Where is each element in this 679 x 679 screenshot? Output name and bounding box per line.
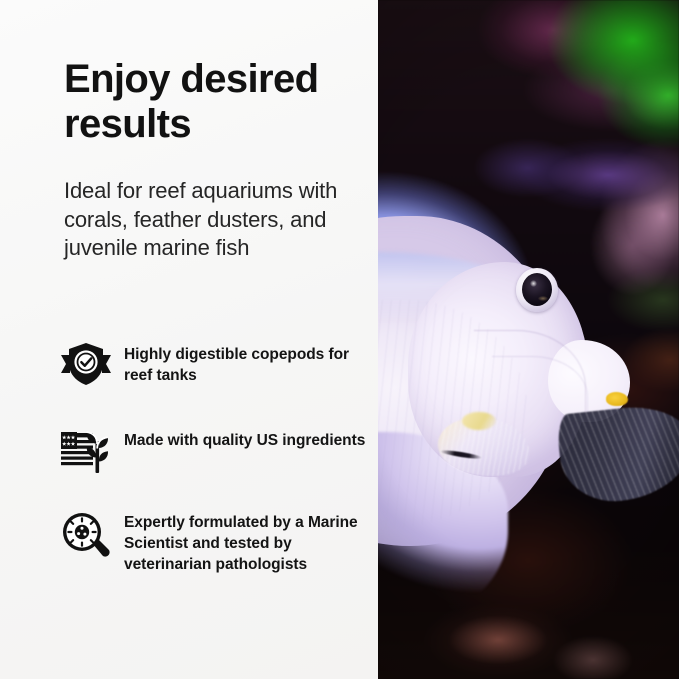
feature-list: Highly digestible copepods for reef tank… <box>60 338 378 575</box>
promo-banner: Enjoy desired results Ideal for reef aqu… <box>0 0 679 679</box>
product-photo <box>378 0 679 679</box>
list-item: Expertly formulated by a Marine Scientis… <box>60 510 378 575</box>
fish-eye-reflection <box>538 296 548 301</box>
text-panel: Enjoy desired results Ideal for reef aqu… <box>0 0 378 679</box>
fish-eye-highlight <box>530 280 537 287</box>
list-item-label: Made with quality US ingredients <box>124 424 365 451</box>
list-item-label: Highly digestible copepods for reef tank… <box>124 338 376 386</box>
fish-pelvic-fin-tip <box>462 412 496 430</box>
subheading: Ideal for reef aquariums with corals, fe… <box>64 177 364 263</box>
fish-eye <box>522 273 552 306</box>
list-item: Made with quality US ingredients <box>60 424 378 476</box>
fish-lip <box>606 392 628 406</box>
shield-check-badge-icon <box>60 338 112 390</box>
list-item: Highly digestible copepods for reef tank… <box>60 338 378 390</box>
us-flag-plant-icon <box>60 424 112 476</box>
magnifier-microbe-icon <box>60 510 112 562</box>
list-item-label: Expertly formulated by a Marine Scientis… <box>124 510 376 575</box>
page-title: Enjoy desired results <box>64 57 374 147</box>
